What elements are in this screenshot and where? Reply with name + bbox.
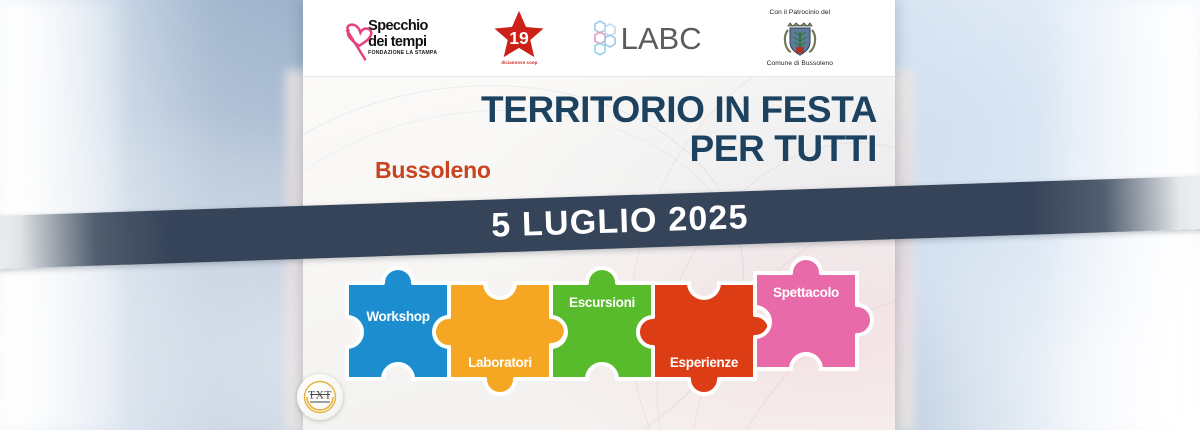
txt-watermark-badge: TXT [297, 374, 343, 420]
sponsor-logo-strip: Specchio dei tempi FONDAZIONE LA STAMPA … [303, 0, 895, 77]
comune-label: Comune di Bussoleno [767, 60, 833, 67]
event-city: Bussoleno [375, 157, 491, 184]
sponsor-logo-labc: LABC [593, 9, 702, 67]
patrocinio-label: Con il Patrocinio del [769, 9, 830, 16]
txt-logo-icon: TXT [300, 377, 340, 417]
sponsor-logo-diciannove-coop: 19 diciannove coop [488, 9, 550, 67]
puzzle-svg: Workshop Laboratori Escursioni [341, 255, 871, 405]
sponsor-logo-comune-di-bussoleno: Con il Patrocinio del Comune di Bussolen… [744, 9, 856, 67]
svg-text:19: 19 [510, 28, 530, 48]
puzzle-label-laboratori: Laboratori [468, 355, 532, 370]
heart-ribbon-icon [342, 22, 376, 66]
puzzle-label-escursioni: Escursioni [569, 295, 635, 310]
specchio-line2: dei tempi [368, 35, 437, 50]
puzzle-label-workshop: Workshop [366, 309, 429, 324]
puzzle-piece-laboratori: Laboratori [434, 283, 566, 394]
red-star-icon: 19 [488, 9, 550, 59]
event-date: 5 LUGLIO 2025 [491, 198, 750, 246]
coat-of-arms-icon [780, 18, 820, 58]
specchio-line1: Specchio [368, 19, 437, 34]
puzzle-piece-esperienze: Esperienze [638, 283, 770, 394]
event-title-line1: TERRITORIO IN FESTA [303, 90, 877, 129]
hexagon-cluster-icon [593, 20, 619, 56]
puzzle-label-esperienze: Esperienze [670, 355, 739, 370]
puzzle-pieces-group: Workshop Laboratori Escursioni [341, 255, 871, 405]
poster-screenshot: Specchio dei tempi FONDAZIONE LA STAMPA … [0, 0, 1200, 430]
sponsor-logo-specchio-dei-tempi: Specchio dei tempi FONDAZIONE LA STAMPA [342, 9, 446, 67]
specchio-line3: FONDAZIONE LA STAMPA [368, 51, 437, 56]
labc-wordmark: LABC [621, 23, 702, 54]
diciannove-caption: diciannove coop [488, 60, 550, 65]
puzzle-piece-spettacolo: Spettacolo [755, 258, 872, 369]
puzzle-label-spettacolo: Spettacolo [773, 285, 839, 300]
svg-text:TXT: TXT [308, 390, 332, 402]
